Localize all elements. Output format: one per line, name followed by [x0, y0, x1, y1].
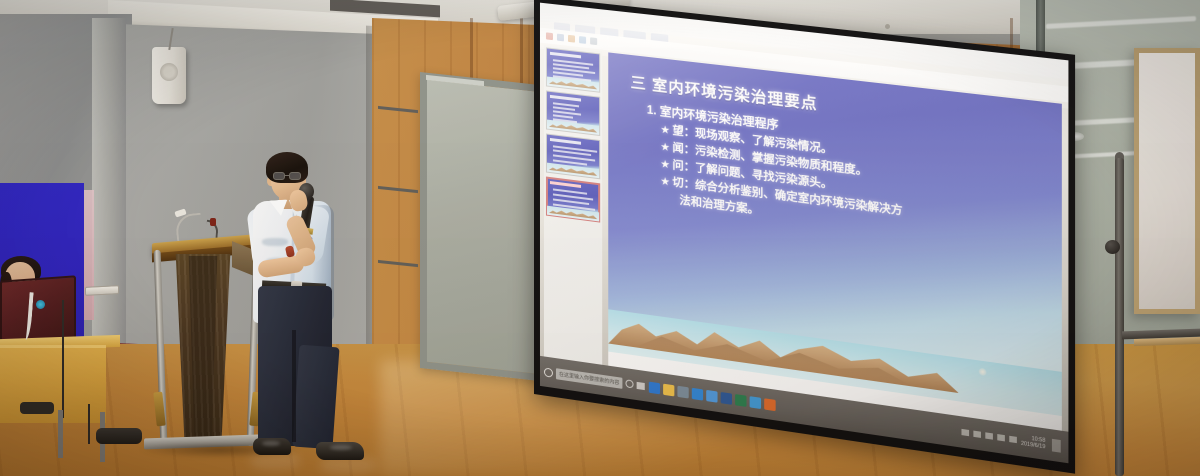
ribbon-icon[interactable] — [590, 37, 597, 45]
star-icon: ★ — [661, 138, 669, 156]
glasses-bridge — [285, 175, 289, 176]
trouser-seam — [292, 330, 296, 442]
pen-icon[interactable] — [961, 429, 969, 436]
edge-icon[interactable] — [649, 381, 660, 394]
glasses-lens-left — [273, 172, 285, 180]
thumbnail-graphic — [547, 163, 599, 179]
glasses-icon — [272, 172, 306, 181]
excel-icon[interactable] — [735, 394, 746, 407]
shoe-highlight — [330, 445, 352, 450]
equipment-case — [96, 428, 142, 444]
thumbnail-graphic — [547, 120, 599, 135]
slide-thumbnail-active[interactable] — [546, 177, 600, 223]
cable — [62, 300, 84, 418]
shoe-highlight — [262, 441, 280, 446]
projection-screen: 三 室内环境污染治理要点 1. 室内环境污染治理程序 ★ 望：现场观察、了解污染… — [534, 0, 1075, 474]
star-icon: ★ — [661, 156, 669, 174]
chevron-up-icon[interactable] — [973, 431, 981, 438]
sun-icon — [979, 368, 987, 376]
thumbnail-title-bar — [550, 138, 581, 144]
star-icon: ★ — [661, 121, 669, 139]
wechat-icon[interactable] — [750, 396, 761, 409]
task-view-icon[interactable] — [637, 381, 645, 389]
grey-wall-board — [420, 72, 546, 382]
projection-surface: 三 室内环境污染治理要点 1. 室内环境污染治理程序 ★ 望：现场观察、了解污染… — [540, 3, 1068, 464]
slide-thumbnail[interactable] — [546, 133, 600, 179]
slide-bullet-list: ★ 望：现场观察、了解污染情况。 ★ 闻：污染检测、掌握污染物质和程度。 ★ 问… — [661, 121, 1040, 255]
taskbar-clock[interactable]: 10:58 2019/6/19 — [1021, 434, 1048, 450]
cortana-circle-icon[interactable] — [625, 379, 633, 388]
floor-equipment — [20, 402, 54, 414]
powerpoint-icon[interactable] — [764, 398, 775, 411]
store-icon[interactable] — [677, 385, 688, 398]
thumbnail-graphic — [547, 77, 599, 92]
ribbon-icon[interactable] — [579, 36, 586, 44]
word-icon[interactable] — [721, 391, 732, 404]
active-slide[interactable]: 三 室内环境污染治理要点 1. 室内环境污染治理程序 ★ 望：现场观察、了解污染… — [608, 52, 1062, 430]
system-tray[interactable]: 10:58 2019/6/19 — [961, 426, 1064, 453]
ime-icon[interactable] — [1009, 436, 1017, 443]
thumbnail-title-bar — [550, 52, 581, 58]
whiteboard-stand-pole — [1115, 158, 1124, 476]
ribbon-icon[interactable] — [546, 32, 553, 40]
search-input[interactable]: 在这里输入你要搜索的内容 — [556, 368, 622, 389]
ribbon-icon[interactable] — [568, 35, 575, 43]
wall-column — [92, 18, 126, 358]
thumbnail-title-bar — [550, 181, 581, 187]
star-icon: ★ — [661, 173, 669, 191]
slide-thumbnail-rail[interactable] — [544, 45, 602, 365]
chrome-icon[interactable] — [706, 389, 717, 402]
stand-adjust-knob[interactable] — [1105, 240, 1120, 254]
glasses-lens-right — [289, 172, 301, 180]
banner-edge — [84, 190, 94, 320]
laptop-logo-icon — [36, 300, 45, 309]
network-icon[interactable] — [985, 432, 993, 439]
windows-start-icon[interactable] — [544, 367, 553, 377]
slide-thumbnail[interactable] — [546, 90, 600, 136]
ribbon-icon[interactable] — [557, 34, 564, 42]
shirt-fold — [262, 238, 288, 246]
presenter-front-leg — [292, 345, 339, 450]
show-desktop-button[interactable] — [1052, 439, 1061, 453]
wall-speaker — [152, 47, 186, 104]
microphone-capsule-icon — [210, 218, 216, 226]
desk-leg — [58, 410, 63, 458]
whiteboard[interactable] — [1134, 48, 1200, 314]
explorer-icon[interactable] — [663, 383, 674, 396]
mail-icon[interactable] — [692, 387, 703, 400]
volume-icon[interactable] — [997, 434, 1005, 441]
lecture-hall-scene: 三 室内环境污染治理要点 1. 室内环境污染治理程序 ★ 望：现场观察、了解污染… — [0, 0, 1200, 476]
slide-thumbnail[interactable] — [546, 47, 600, 92]
usb-device[interactable] — [85, 285, 119, 296]
ceiling-sensor-icon — [885, 24, 890, 29]
thumbnail-title-bar — [550, 95, 581, 101]
